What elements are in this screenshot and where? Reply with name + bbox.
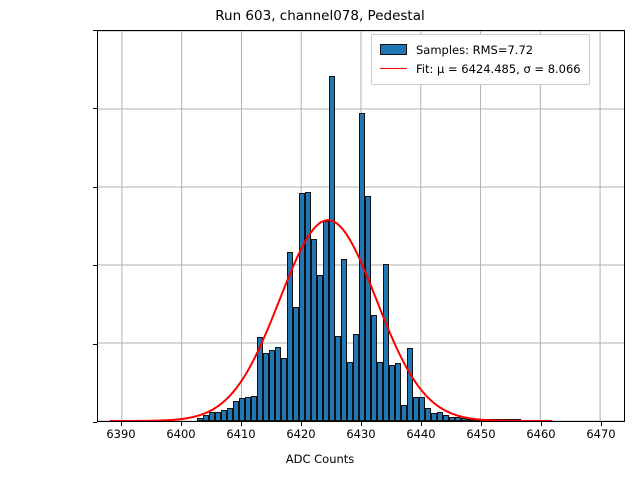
x-tick-mark [601,422,602,426]
x-tick-mark [481,422,482,426]
legend-label-fit: Fit: μ = 6424.485, σ = 8.066 [416,62,581,76]
x-tick-label: 6410 [226,427,255,441]
legend-item-fit: Fit: μ = 6424.485, σ = 8.066 [380,59,581,78]
x-tick-label: 6430 [346,427,375,441]
y-axis-label: Entries [0,176,1,216]
chart-legend: Samples: RMS=7.72 Fit: μ = 6424.485, σ =… [371,34,590,85]
plot-area [97,30,625,422]
x-tick-label: 6470 [586,427,615,441]
x-tick-mark [181,422,182,426]
x-tick-label: 6400 [166,427,195,441]
gaussian-fit-curve [98,31,624,421]
x-tick-mark [301,422,302,426]
x-tick-label: 6440 [406,427,435,441]
legend-label-samples: Samples: RMS=7.72 [416,43,533,57]
legend-line-icon [380,68,407,69]
legend-patch-icon [380,44,407,55]
x-tick-label: 6390 [106,427,135,441]
chart-figure: Run 603, channel078, Pedestal Entries AD… [0,0,640,480]
x-tick-mark [121,422,122,426]
x-tick-label: 6420 [286,427,315,441]
x-axis-label: ADC Counts [0,452,640,466]
x-tick-mark [421,422,422,426]
chart-title: Run 603, channel078, Pedestal [0,8,640,24]
legend-item-samples: Samples: RMS=7.72 [380,40,581,59]
x-tick-mark [361,422,362,426]
x-tick-mark [241,422,242,426]
y-tick-mark [93,422,97,423]
x-tick-mark [541,422,542,426]
x-tick-label: 6450 [466,427,495,441]
x-tick-label: 6460 [526,427,555,441]
